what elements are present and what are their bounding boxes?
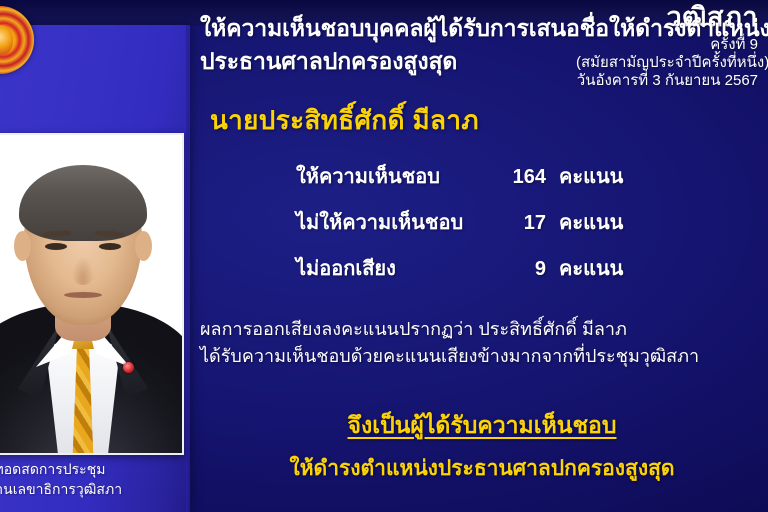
portrait-hair	[19, 165, 147, 241]
panel-footer-line2: สำนักงานเลขาธิการวุฒิสภา	[0, 481, 192, 499]
conclusion-line-1: จึงเป็นผู้ได้รับความเห็นชอบ	[196, 408, 768, 444]
nominee-portrait	[0, 135, 182, 453]
vote-label-disapprove: ไม่ให้ความเห็นชอบ	[196, 206, 454, 238]
headline-line-1: ให้ความเห็นชอบบุคคลผู้ได้รับการเสนอชื่อใ…	[200, 15, 768, 41]
broadcast-graphic: วุฒิสภา ครั้งที่ 9 (สมัยสามัญประจำปีครั้…	[0, 0, 768, 512]
headline: ให้ความเห็นชอบบุคคลผู้ได้รับการเสนอชื่อใ…	[200, 12, 768, 77]
nominee-portrait-frame	[0, 133, 184, 455]
vote-count-abstain: 9	[454, 258, 546, 281]
conclusion-line-2: ให้ดำรงตำแหน่งประธานศาลปกครองสูงสุด	[196, 452, 768, 485]
main-content: ให้ความเห็นชอบบุคคลผู้ได้รับการเสนอชื่อใ…	[196, 0, 768, 512]
vote-row-approve: ให้ความเห็นชอบ 164 คะแนน	[196, 160, 716, 192]
nominee-name: นายประสิทธิ์ศักดิ์ มีลาภ	[210, 100, 479, 141]
portrait-eye-left	[45, 243, 67, 250]
conclusion: จึงเป็นผู้ได้รับความเห็นชอบ ให้ดำรงตำแหน…	[196, 408, 768, 485]
portrait-mouth	[64, 292, 102, 298]
vote-count-approve: 164	[454, 166, 546, 189]
vote-count-disapprove: 17	[454, 212, 546, 235]
vote-results-table: ให้ความเห็นชอบ 164 คะแนน ไม่ให้ความเห็นช…	[196, 160, 716, 298]
vote-unit-approve: คะแนน	[546, 160, 623, 192]
vote-label-abstain: ไม่ออกเสียง	[196, 252, 454, 284]
portrait-ear-right	[135, 231, 152, 261]
portrait-eye-right	[99, 243, 121, 250]
result-paragraph-line-2: ได้รับความเห็นชอบด้วยคะแนนเสียงข้างมากจา…	[200, 343, 768, 370]
senate-emblem-core	[0, 25, 13, 55]
panel-footer: ถ่ายทอดสดการประชุม สำนักงานเลขาธิการวุฒิ…	[0, 461, 192, 498]
result-paragraph: ผลการออกเสียงลงคะแนนปรากฏว่า ประสิทธิ์ศั…	[200, 316, 768, 370]
portrait-lapel-pin-icon	[123, 362, 134, 373]
vote-row-disapprove: ไม่ให้ความเห็นชอบ 17 คะแนน	[196, 206, 716, 238]
vote-label-approve: ให้ความเห็นชอบ	[196, 160, 454, 192]
portrait-nose	[72, 257, 94, 285]
left-panel-edge	[186, 25, 191, 512]
panel-footer-line1: ถ่ายทอดสดการประชุม	[0, 461, 192, 479]
result-paragraph-line-1: ผลการออกเสียงลงคะแนนปรากฏว่า ประสิทธิ์ศั…	[200, 316, 768, 343]
vote-unit-disapprove: คะแนน	[546, 206, 623, 238]
vote-row-abstain: ไม่ออกเสียง 9 คะแนน	[196, 252, 716, 284]
portrait-ear-left	[14, 231, 31, 261]
vote-unit-abstain: คะแนน	[546, 252, 623, 284]
headline-line-2: ประธานศาลปกครองสูงสุด	[200, 45, 768, 78]
